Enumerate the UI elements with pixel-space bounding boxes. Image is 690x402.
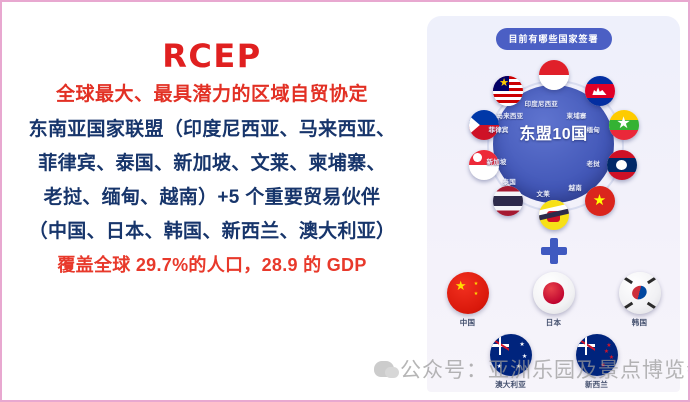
vietnam-flag-icon (585, 186, 615, 216)
diagram-banner: 目前有哪些国家签署 (495, 28, 611, 50)
japan-flag-icon (533, 272, 575, 314)
south-korea-flag-icon (619, 272, 661, 314)
node-label: 印度尼西亚 (525, 98, 559, 108)
cambodia-flag-icon (585, 76, 615, 106)
flag-node-malaysia[interactable] (493, 76, 523, 106)
partner-flags: 中国 日本 韩国 (427, 272, 680, 390)
flag-node-vietnam[interactable] (585, 186, 615, 216)
node-label: 越南 (569, 182, 582, 192)
china-flag-icon (447, 272, 489, 314)
page-title: RCEP (16, 40, 408, 72)
statistics-line: 覆盖全球 29.7%的人口，28.9 的 GDP (16, 256, 408, 274)
node-label: 文莱 (537, 188, 550, 198)
body-line: 菲律宾、泰国、新加坡、文莱、柬埔寨、 (16, 154, 408, 173)
partner-label: 日本 (530, 317, 578, 328)
partner-australia[interactable]: ★ ★ ★ ★ 澳大利亚 (487, 334, 535, 390)
flag-node-indonesia[interactable] (539, 60, 569, 90)
partner-new-zealand[interactable]: ★ ★ ★ ★ 新西兰 (573, 334, 621, 390)
flag-node-cambodia[interactable] (585, 76, 615, 106)
partner-label: 新西兰 (573, 379, 621, 390)
myanmar-flag-icon (609, 110, 639, 140)
partner-row-2: ★ ★ ★ ★ 澳大利亚 ★ ★ ★ (427, 334, 680, 390)
partner-row-1: 中国 日本 韩国 (427, 272, 680, 328)
partner-south-korea[interactable]: 韩国 (616, 272, 664, 328)
indonesia-flag-icon (539, 60, 569, 90)
malaysia-flag-icon (493, 76, 523, 106)
plus-icon (541, 238, 567, 264)
partner-label: 中国 (444, 317, 492, 328)
partner-label: 澳大利亚 (487, 379, 535, 390)
thailand-flag-icon (493, 186, 523, 216)
body-line: 老挝、缅甸、越南）+5 个重要贸易伙伴 (16, 188, 408, 207)
asean-wheel: 东盟10国 印度尼西亚 柬埔寨 缅甸 老挝 (449, 58, 659, 230)
node-label: 老挝 (587, 158, 600, 168)
brunei-flag-icon (539, 200, 569, 230)
flag-node-laos[interactable] (607, 150, 637, 180)
poster-subtitle: 全球最大、最具潜力的区域自贸协定 (16, 85, 408, 106)
text-panel: RCEP 全球最大、最具潜力的区域自贸协定 东南亚国家联盟（印度尼西亚、马来西亚… (2, 2, 422, 400)
node-label: 新加坡 (487, 156, 507, 166)
partner-label: 韩国 (616, 317, 664, 328)
diagram-panel: 目前有哪些国家签署 东盟10国 印度尼西亚 柬埔寨 缅甸 (427, 16, 680, 392)
new-zealand-flag-icon: ★ ★ ★ ★ (576, 334, 618, 376)
partner-japan[interactable]: 日本 (530, 272, 578, 328)
laos-flag-icon (607, 150, 637, 180)
body-line: 东南亚国家联盟（印度尼西亚、马来西亚、 (16, 120, 408, 139)
poster-root: RCEP 全球最大、最具潜力的区域自贸协定 东南亚国家联盟（印度尼西亚、马来西亚… (0, 0, 690, 402)
node-label: 柬埔寨 (567, 110, 587, 120)
flag-node-thailand[interactable] (493, 186, 523, 216)
flag-node-brunei[interactable] (539, 200, 569, 230)
node-label: 菲律宾 (489, 124, 509, 134)
body-line: （中国、日本、韩国、新西兰、澳大利亚） (16, 222, 408, 241)
australia-flag-icon: ★ ★ ★ ★ (490, 334, 532, 376)
node-label: 缅甸 (587, 124, 600, 134)
node-label: 马来西亚 (497, 110, 524, 120)
flag-node-myanmar[interactable] (609, 110, 639, 140)
body-text: 东南亚国家联盟（印度尼西亚、马来西亚、 菲律宾、泰国、新加坡、文莱、柬埔寨、 老… (16, 120, 408, 241)
partner-china[interactable]: 中国 (444, 272, 492, 328)
node-label: 泰国 (503, 176, 516, 186)
